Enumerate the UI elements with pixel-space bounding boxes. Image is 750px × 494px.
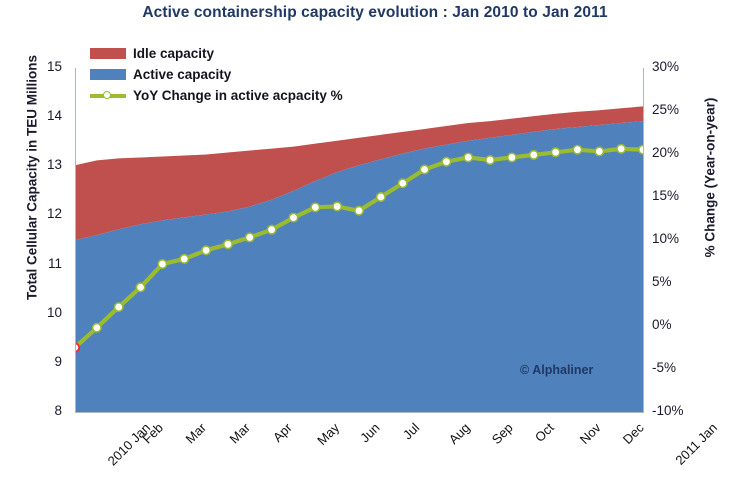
data-point-marker[interactable]: [224, 240, 232, 248]
data-point-marker[interactable]: [508, 153, 516, 161]
data-point-marker[interactable]: [442, 158, 450, 166]
axis-line-bottom: [75, 412, 644, 413]
data-point-marker[interactable]: [267, 225, 275, 233]
data-point-marker[interactable]: [420, 165, 428, 173]
y-axis-right-tick: -5%: [652, 360, 698, 375]
y-axis-right-tick: 5%: [652, 274, 698, 289]
x-axis-tick: Apr: [270, 420, 295, 445]
data-point-marker[interactable]: [617, 145, 625, 153]
chart-canvas: [75, 68, 643, 412]
data-point-marker[interactable]: [114, 303, 122, 311]
y-axis-left-tick: 13: [28, 157, 62, 172]
x-axis-tick: Mar: [183, 420, 209, 446]
axis-line-right: [643, 68, 644, 413]
y-axis-left-tick: 11: [28, 256, 62, 271]
x-axis-tick: May: [315, 420, 343, 448]
data-point-marker[interactable]: [595, 147, 603, 155]
y-axis-right-tick: 10%: [652, 231, 698, 246]
data-point-marker[interactable]: [355, 207, 363, 215]
data-point-marker[interactable]: [246, 233, 254, 241]
data-point-marker[interactable]: [311, 203, 319, 211]
y-axis-left-tick: 12: [28, 206, 62, 221]
y-axis-right-tick: 20%: [652, 145, 698, 160]
x-axis-tick: Jul: [400, 420, 422, 442]
x-axis-tick: 2010 Jan: [105, 420, 153, 468]
data-point-marker[interactable]: [551, 148, 559, 156]
data-point-marker[interactable]: [573, 146, 581, 154]
y-axis-right-tick: 25%: [652, 102, 698, 117]
plot-area: [75, 68, 643, 412]
data-point-marker[interactable]: [377, 193, 385, 201]
legend-swatch-idle-capacity: [90, 48, 126, 59]
data-point-marker[interactable]: [136, 283, 144, 291]
data-point-marker[interactable]: [93, 324, 101, 332]
x-axis-tick: Sep: [489, 420, 516, 447]
legend-item-idle-capacity[interactable]: Idle capacity: [90, 44, 343, 63]
x-axis-tick: Oct: [532, 420, 557, 445]
y-axis-left-tick: 14: [28, 108, 62, 123]
x-axis-tick: Dec: [620, 420, 647, 447]
x-axis-tick: Mar: [227, 420, 253, 446]
y-axis-right-title: % Change (Year-on-year): [703, 28, 718, 328]
data-point-marker[interactable]: [158, 260, 166, 268]
legend-label-idle-capacity: Idle capacity: [133, 46, 214, 61]
y-axis-left-tick: 9: [28, 354, 62, 369]
data-point-marker[interactable]: [398, 179, 406, 187]
y-axis-right-tick: 30%: [652, 59, 698, 74]
data-point-marker[interactable]: [333, 202, 341, 210]
x-axis-tick: Nov: [576, 420, 603, 447]
y-axis-right-tick: -10%: [652, 403, 698, 418]
copyright-watermark: © Alphaliner: [520, 363, 593, 377]
data-point-marker[interactable]: [202, 246, 210, 254]
axis-line-left: [75, 68, 76, 413]
chart-title: Active containership capacity evolution …: [0, 4, 750, 22]
data-point-marker[interactable]: [486, 156, 494, 164]
y-axis-right-tick: 15%: [652, 188, 698, 203]
y-axis-left-tick: 15: [28, 59, 62, 74]
x-axis-tick: 2011 Jan: [672, 420, 720, 468]
y-axis-right-tick: 0%: [652, 317, 698, 332]
data-point-marker[interactable]: [180, 255, 188, 263]
y-axis-left-tick: 8: [28, 403, 62, 418]
x-axis-tick: Aug: [445, 420, 472, 447]
y-axis-left-tick: 10: [28, 305, 62, 320]
chart-root: Active containership capacity evolution …: [0, 0, 750, 494]
data-point-marker[interactable]: [464, 153, 472, 161]
x-axis-tick: Jun: [357, 420, 382, 445]
data-point-marker[interactable]: [530, 151, 538, 159]
data-point-marker[interactable]: [289, 213, 297, 221]
